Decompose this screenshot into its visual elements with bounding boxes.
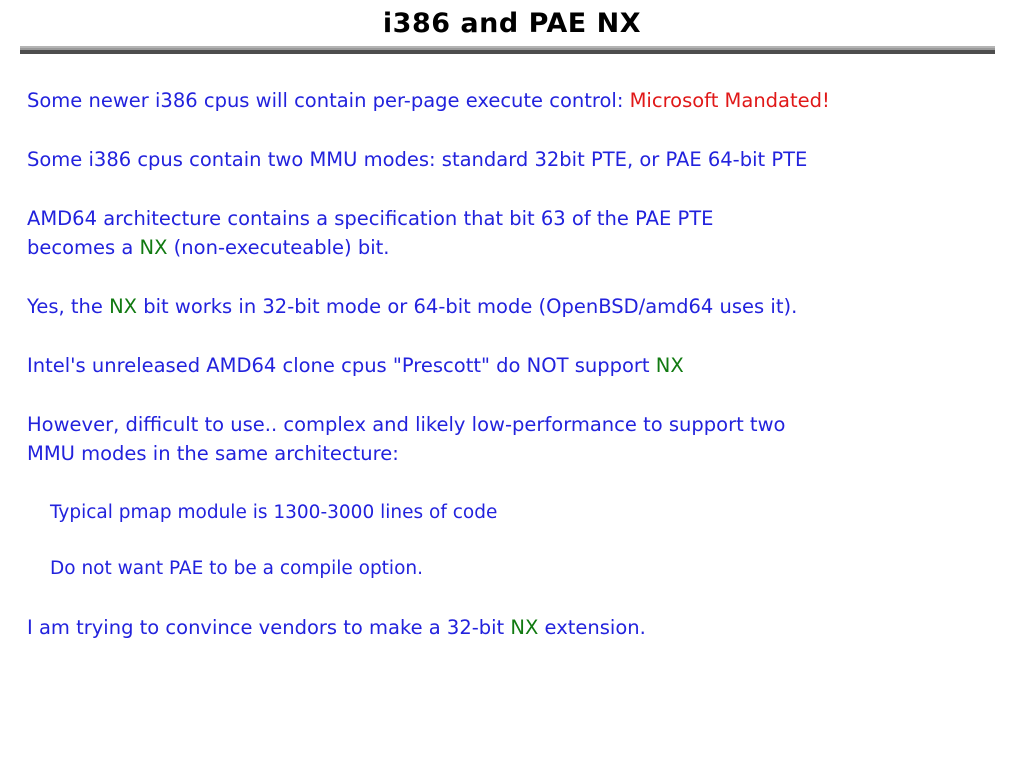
amd64-spec-prefix: becomes a	[27, 236, 140, 259]
nx-keyword: NX	[510, 616, 538, 639]
nx-works-suffix: bit works in 32-bit mode or 64-bit mode …	[137, 295, 797, 318]
amd64-spec-suffix: (non-executeable) bit.	[167, 236, 389, 259]
paragraph-mmu-modes: Some i386 cpus contain two MMU modes: st…	[0, 145, 1024, 174]
paragraph-prescott: Intel's unreleased AMD64 clone cpus "Pre…	[0, 351, 1024, 380]
subitem-pmap-size: Typical pmap module is 1300-3000 lines o…	[0, 498, 1024, 527]
paragraph-execute-control-line: Some newer i386 cpus will contain per-pa…	[27, 86, 1024, 115]
mmu-modes-line: Some i386 cpus contain two MMU modes: st…	[27, 145, 1024, 174]
amd64-spec-line1: AMD64 architecture contains a specificat…	[27, 204, 1024, 233]
paragraph-amd64-spec: AMD64 architecture contains a specificat…	[0, 204, 1024, 262]
paragraph-nx-works: Yes, the NX bit works in 32-bit mode or …	[0, 292, 1024, 321]
page-title: i386 and PAE NX	[383, 10, 641, 38]
nx-works-prefix: Yes, the	[27, 295, 109, 318]
prescott-line: Intel's unreleased AMD64 clone cpus "Pre…	[27, 351, 1024, 380]
difficulty-line1: However, difficult to use.. complex and …	[27, 410, 1024, 439]
nx-keyword: NX	[140, 236, 168, 259]
paragraph-execute-control: Some newer i386 cpus will contain per-pa…	[0, 86, 1024, 115]
amd64-spec-line2: becomes a NX (non-executeable) bit.	[27, 233, 1024, 262]
prescott-prefix: Intel's unreleased AMD64 clone cpus "Pre…	[27, 354, 656, 377]
nx-keyword: NX	[109, 295, 137, 318]
nx-keyword: NX	[656, 354, 684, 377]
vendor-convince-line: I am trying to convince vendors to make …	[27, 613, 1024, 642]
slide-title-bar: i386 and PAE NX	[0, 10, 1024, 38]
nx-works-line: Yes, the NX bit works in 32-bit mode or …	[27, 292, 1024, 321]
vendor-convince-suffix: extension.	[538, 616, 645, 639]
paragraph-vendor-convince: I am trying to convince vendors to make …	[0, 613, 1024, 642]
subitem-compile-option: Do not want PAE to be a compile option.	[0, 554, 1024, 583]
difficulty-line2: MMU modes in the same architecture:	[27, 439, 1024, 468]
vendor-convince-prefix: I am trying to convince vendors to make …	[27, 616, 510, 639]
paragraph-difficulty: However, difficult to use.. complex and …	[0, 410, 1024, 468]
slide-canvas: i386 and PAE NX Some newer i386 cpus wil…	[0, 0, 1024, 768]
execute-control-text: Some newer i386 cpus will contain per-pa…	[27, 89, 630, 112]
subitem-compile-option-line: Do not want PAE to be a compile option.	[50, 554, 1024, 583]
title-divider	[20, 46, 995, 54]
subitem-pmap-size-line: Typical pmap module is 1300-3000 lines o…	[50, 498, 1024, 527]
slide-body: Some newer i386 cpus will contain per-pa…	[0, 86, 1024, 642]
microsoft-mandated-emphasis: Microsoft Mandated!	[630, 89, 830, 112]
